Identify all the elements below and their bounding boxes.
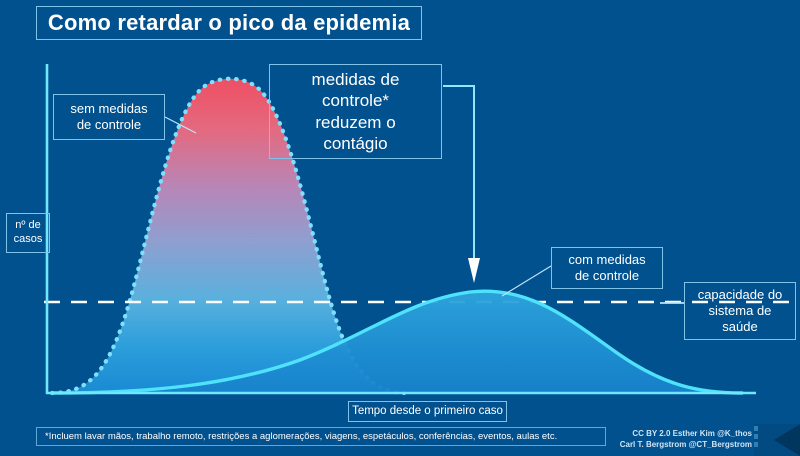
x-axis-label: Tempo desde o primeiro caso xyxy=(348,401,507,422)
callout-no-measures-text: sem medidas de controle xyxy=(70,101,147,134)
callout-health-capacity-text: capacidade do sistema de saúde xyxy=(698,287,783,336)
attribution-line-1: CC BY 2.0 Esther Kim @K_thos xyxy=(620,429,752,440)
callout-no-measures: sem medidas de controle xyxy=(53,94,165,140)
footnote-text: *Incluem lavar mãos, trabalho remoto, re… xyxy=(45,431,557,442)
x-axis-label-text: Tempo desde o primeiro caso xyxy=(352,404,503,418)
slide-canvas: Como retardar o pico da epidemia sem med… xyxy=(0,0,800,456)
annotation-arrow-head xyxy=(468,258,480,283)
callout-measures-effect: medidas de controle* reduzem o contágio xyxy=(269,64,442,159)
y-axis-label: nº de casos xyxy=(6,213,50,253)
footnote: *Incluem lavar mãos, trabalho remoto, re… xyxy=(36,427,606,446)
corner-logo-icon xyxy=(754,424,800,456)
annotation-arrow xyxy=(443,86,474,262)
y-axis-label-text: nº de casos xyxy=(7,219,49,247)
attribution-line-2: Carl T. Bergstrom @CT_Bergstrom xyxy=(620,440,752,451)
page-title-text: Como retardar o pico da epidemia xyxy=(48,10,410,36)
callout-with-measures: com medidas de controle xyxy=(551,247,663,289)
callout-measures-effect-text: medidas de controle* reduzem o contágio xyxy=(312,69,400,154)
page-title: Como retardar o pico da epidemia xyxy=(36,6,422,40)
callout-with-measures-text: com medidas de controle xyxy=(568,252,645,285)
attribution: CC BY 2.0 Esther Kim @K_thos Carl T. Ber… xyxy=(620,429,752,451)
callout-health-capacity: capacidade do sistema de saúde xyxy=(684,282,796,340)
leader-line-with-measures xyxy=(502,266,551,296)
